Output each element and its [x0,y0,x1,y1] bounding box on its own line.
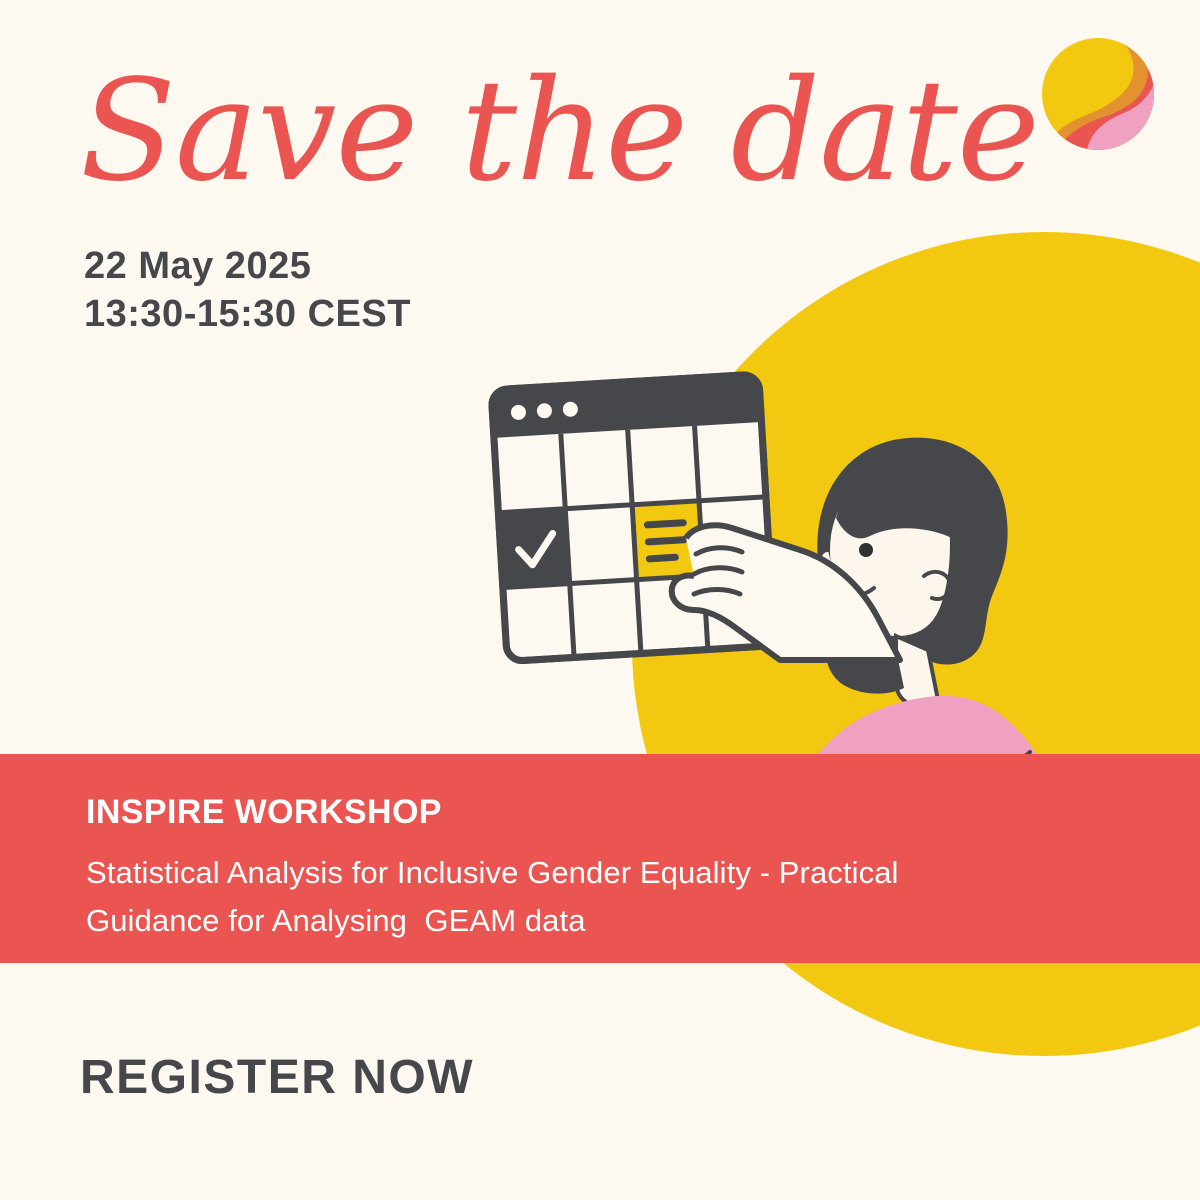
event-time: 13:30-15:30 CEST [84,290,411,338]
inspire-logo [1036,32,1160,156]
workshop-banner: INSPIRE WORKSHOP Statistical Analysis fo… [0,754,1200,963]
banner-subtitle-line2: Guidance for Analysing GEAM data [86,897,1200,945]
banner-title: INSPIRE WORKSHOP [86,794,1200,831]
page-title: Save the date [80,62,1039,202]
event-date: 22 May 2025 [84,242,411,290]
event-datetime: 22 May 2025 13:30-15:30 CEST [84,242,411,339]
banner-subtitle-line1: Statistical Analysis for Inclusive Gende… [86,849,1200,897]
register-now-cta[interactable]: REGISTER NOW [80,1050,474,1105]
poster-canvas: Save the date 22 May 2025 13:30-15:30 CE… [0,0,1200,1200]
calendar-illustration [480,360,1080,780]
